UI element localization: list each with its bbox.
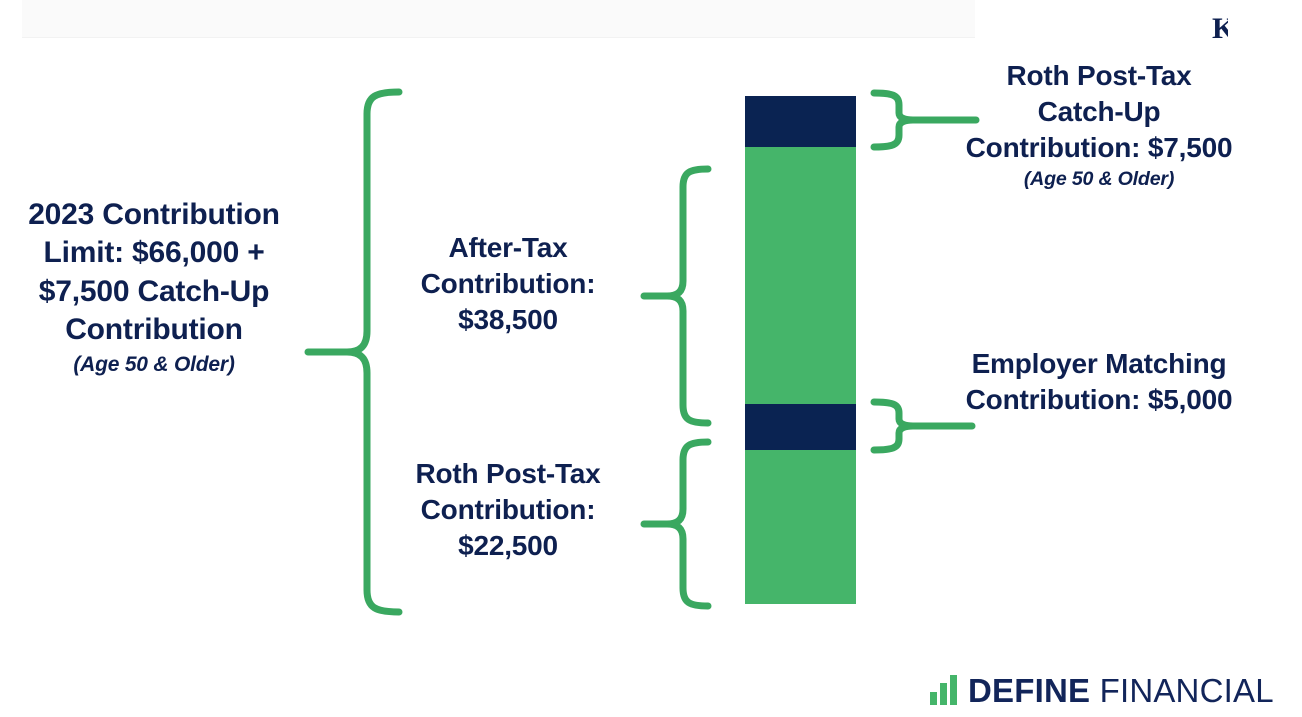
brace-employer-matching (868, 394, 984, 458)
employer-matching-contribution-label: Employer Matching Contribution: $5,000 (965, 346, 1233, 418)
top-banner-strip (22, 0, 975, 38)
after-tax-contribution-text: After-Tax Contribution: $38,500 (421, 232, 596, 335)
brace-roth-catch-up (868, 85, 984, 157)
logo-bar-large (950, 675, 957, 705)
total-contribution-limit-note: (Age 50 & Older) (8, 352, 300, 379)
clipped-glyph-remnant: K (1212, 16, 1228, 42)
brace-after-tax (638, 162, 714, 430)
total-contribution-limit-label: 2023 Contribution Limit: $66,000 + $7,50… (8, 196, 300, 378)
roth-post-tax-contribution-label: Roth Post-Tax Contribution: $22,500 (372, 456, 644, 563)
contribution-stacked-bar (745, 96, 856, 604)
bar-segment-roth-catch-up (745, 96, 856, 147)
bar-segment-employer-matching (745, 404, 856, 450)
logo-bar-small (930, 692, 937, 705)
roth-post-tax-contribution-text: Roth Post-Tax Contribution: $22,500 (415, 458, 600, 561)
bar-segment-after-tax (745, 147, 856, 404)
logo-word-define: DEFINE (968, 672, 1090, 709)
brace-roth-post-tax (638, 435, 714, 613)
roth-catch-up-contribution-label: Roth Post-Tax Catch-Up Contribution: $7,… (965, 58, 1233, 193)
brace-total-limit (300, 84, 410, 624)
roth-catch-up-contribution-text: Roth Post-Tax Catch-Up Contribution: $7,… (966, 60, 1233, 163)
define-financial-logo: DEFINE FINANCIAL (930, 666, 1274, 708)
after-tax-contribution-label: After-Tax Contribution: $38,500 (372, 230, 644, 337)
logo-word-financial: FINANCIAL (1100, 672, 1274, 709)
bar-segment-roth-post-tax (745, 450, 856, 604)
logo-wordmark: DEFINE FINANCIAL (968, 674, 1274, 708)
total-contribution-limit-text: 2023 Contribution Limit: $66,000 + $7,50… (28, 198, 280, 346)
logo-bar-medium (940, 683, 947, 705)
ascending-bars-icon (930, 675, 957, 705)
employer-matching-contribution-text: Employer Matching Contribution: $5,000 (966, 348, 1233, 415)
infographic-canvas: K 2023 Contribution Limit: $66,000 + $7,… (0, 0, 1302, 717)
roth-catch-up-contribution-note: (Age 50 & Older) (965, 167, 1233, 192)
